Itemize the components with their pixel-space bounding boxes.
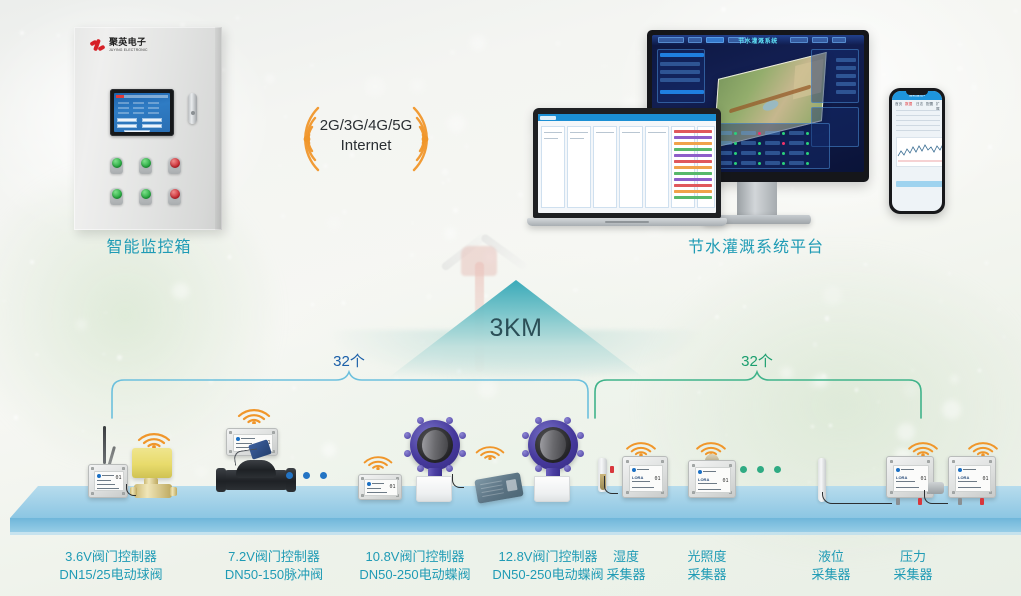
caption-line-2: 采集器 (591, 566, 661, 584)
sensor-module-name: LORA (632, 475, 643, 480)
valve-controller-10v8-box: 01 (358, 474, 402, 500)
ellipsis-dot (740, 466, 747, 473)
sensor-module-name: LORA (958, 475, 969, 480)
network-line-1: 2G/3G/4G/5G (316, 116, 416, 136)
monitor-valve-status-grid (710, 123, 830, 169)
phone-tab-log[interactable]: 日志 (916, 102, 923, 107)
bracket-right-32 (593, 370, 923, 420)
sensor-display-value: 01 (920, 476, 926, 482)
caption-sensor-pressure: 压力 采集器 (878, 548, 948, 584)
humidity-collector-box: LORA 01 (622, 456, 668, 498)
valve-device-12v8 (482, 420, 612, 510)
bracket-left-32 (110, 370, 590, 420)
sensor-module-name: LORA (698, 477, 709, 482)
wifi-signal-icon (694, 432, 728, 456)
ball-valve-port-right (170, 487, 177, 496)
caption-sensor-humidity: 湿度 采集器 (591, 548, 661, 584)
cabinet-body: 聚英电子 JUYING ELECTRONIC (74, 27, 222, 230)
level-terminal-neutral (896, 498, 900, 505)
diagram-canvas: 3KM 聚英电子 JUYING ELECTRONIC (0, 0, 1021, 596)
caption-line-1: 光照度 (669, 548, 745, 566)
valve-controller-3v6-box: 01 (88, 464, 128, 498)
valve-support-box (534, 476, 570, 502)
ball-valve-actuator (132, 448, 172, 478)
pressure-cable (924, 490, 948, 504)
monitor-stand (737, 182, 777, 216)
cabinet-brand-logo: 聚英电子 JUYING ELECTRONIC (90, 38, 148, 53)
valve-device-3v6: 01 (86, 424, 196, 508)
bracket-right-count-label: 32个 (727, 350, 787, 371)
cabinet-indicator-1[interactable] (110, 157, 123, 174)
range-distance-label: 3KM (388, 314, 644, 343)
level-terminal-red (918, 498, 922, 505)
caption-line-1: 湿度 (591, 548, 661, 566)
brand-name-en: JUYING ELECTRONIC (109, 49, 148, 52)
sensor-module-name: LORA (896, 475, 907, 480)
smartphone-device: 智能监控4 首页 数据 日志 配置 扩展 (889, 88, 945, 214)
cabinet-door-handle[interactable] (188, 93, 197, 124)
level-probe-cable (822, 492, 892, 504)
brand-name-cn: 聚英电子 (109, 38, 148, 47)
caption-line-2: 采集器 (878, 566, 948, 584)
valve-controller-12v8-box (474, 472, 523, 504)
phone-trend-chart (896, 137, 942, 167)
wifi-signal-icon (136, 422, 172, 448)
monitor-left-panel (657, 49, 705, 103)
valve-device-10v8: 01 (358, 420, 488, 510)
ellipsis-valves (286, 472, 327, 479)
smart-control-cabinet: 聚英电子 JUYING ELECTRONIC (74, 27, 222, 230)
caption-line-2: 采集器 (796, 566, 866, 584)
wifi-arcs-right-icon (412, 104, 464, 174)
caption-line-1: 压力 (878, 548, 948, 566)
pulse-valve-flange-left (216, 468, 226, 492)
ellipsis-dot (757, 466, 764, 473)
wifi-signal-icon (474, 436, 506, 460)
caption-sensor-illuminance: 光照度 采集器 (669, 548, 745, 584)
cabinet-indicator-2[interactable] (139, 157, 152, 174)
platform-device-group: 节水灌溉系统 (505, 30, 1005, 235)
wifi-signal-icon (966, 432, 1000, 456)
network-technology-label: 2G/3G/4G/5G Internet (316, 116, 416, 156)
cabinet-indicator-4[interactable] (110, 188, 123, 205)
network-line-2: Internet (316, 136, 416, 156)
laptop-screen (538, 114, 716, 213)
valve-device-7v2: 01 (216, 398, 336, 508)
phone-action-button[interactable] (896, 181, 942, 187)
illuminance-collector-box: LORA 01 (688, 460, 736, 498)
platform-caption: 节水灌溉系统平台 (596, 233, 916, 257)
sensor-display-value: 01 (982, 476, 988, 482)
cabinet-indicator-5[interactable] (139, 188, 152, 205)
sensor-device-humidity: LORA 01 (598, 432, 678, 510)
cabinet-hmi-panel[interactable] (110, 89, 174, 136)
monitor-dashboard-title: 节水灌溉系统 (652, 36, 864, 45)
sensor-display-value: 01 (722, 478, 728, 484)
probe-terminal-red (610, 466, 614, 473)
wifi-signal-icon (906, 432, 940, 456)
sensor-device-pressure: LORA 01 (950, 432, 1021, 518)
wifi-signal-icon (236, 398, 272, 424)
phone-tab-home[interactable]: 首页 (895, 102, 902, 107)
wifi-arcs-left-icon (268, 104, 320, 174)
valve-support-box (416, 476, 452, 502)
caption-line-1: 液位 (796, 548, 866, 566)
phone-screen: 智能监控4 首页 数据 日志 配置 扩展 (892, 91, 942, 211)
hmi-screen (114, 93, 170, 132)
laptop-trackpad-notch (605, 221, 649, 224)
monitor-right-panel (811, 49, 859, 103)
cabinet-indicator-6[interactable] (168, 188, 181, 205)
phone-body: 智能监控4 首页 数据 日志 配置 扩展 (889, 88, 945, 214)
cabinet-caption: 智能监控箱 (36, 233, 262, 257)
brand-mark-icon (90, 38, 105, 53)
pressure-terminal-red (980, 498, 984, 505)
ellipsis-dot (303, 472, 310, 479)
laptop-device (527, 108, 727, 235)
caption-line-2: DN15/25电动球阀 (31, 566, 191, 584)
ellipsis-sensors (740, 466, 781, 473)
pressure-terminal-neutral (958, 498, 962, 505)
phone-notch (906, 91, 928, 95)
probe-cable (604, 476, 618, 494)
phone-tab-data[interactable]: 数据 (905, 102, 912, 107)
caption-valve-3v6: 3.6V阀门控制器 DN15/25电动球阀 (31, 548, 191, 584)
wifi-signal-icon (624, 432, 658, 456)
ball-valve-body-brass (134, 484, 172, 498)
ellipsis-dot (320, 472, 327, 479)
pressure-collector-box: LORA 01 (948, 456, 996, 498)
controller-antenna (103, 426, 106, 464)
valve-power-cable (452, 474, 464, 488)
sensor-display-value: 01 (654, 476, 660, 482)
caption-line-2: 采集器 (669, 566, 745, 584)
phone-tab-config[interactable]: 配置 (926, 102, 933, 107)
caption-sensor-level: 液位 采集器 (796, 548, 866, 584)
cabinet-indicator-3[interactable] (168, 157, 181, 174)
network-link-group: 2G/3G/4G/5G Internet (268, 100, 464, 178)
bracket-left-count-label: 32个 (319, 350, 379, 371)
laptop-lid (533, 108, 721, 218)
ellipsis-dot (286, 472, 293, 479)
wifi-signal-icon (362, 446, 394, 470)
ellipsis-dot (774, 466, 781, 473)
caption-line-1: 3.6V阀门控制器 (31, 548, 191, 566)
